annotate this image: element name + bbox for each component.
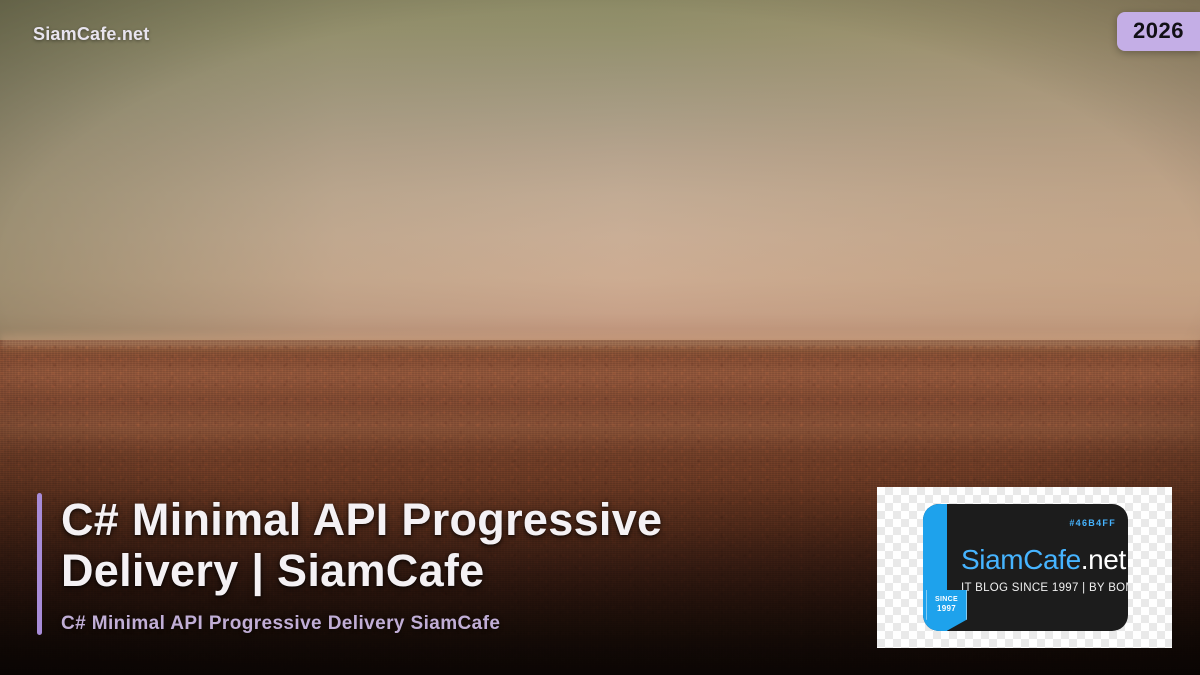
since-ribbon-line1: SINCE bbox=[927, 596, 966, 604]
logo-brand-wordmark: SiamCafe.net bbox=[961, 544, 1126, 576]
accent-bar bbox=[37, 493, 42, 635]
year-badge: 2026 bbox=[1117, 12, 1200, 51]
logo-brand-suffix: .net bbox=[1081, 544, 1126, 575]
since-ribbon-line2: 1997 bbox=[927, 604, 966, 613]
logo-card: #46B4FF SiamCafe.net IT BLOG SINCE 1997 … bbox=[877, 487, 1172, 648]
page-title: C# Minimal API Progressive Delivery | Si… bbox=[61, 495, 701, 596]
logo-brand-primary: SiamCafe bbox=[961, 544, 1081, 575]
page-subtitle: C# Minimal API Progressive Delivery Siam… bbox=[61, 613, 701, 635]
background-sky bbox=[0, 0, 1200, 348]
logo-tagline: IT BLOG SINCE 1997 | BY BOM bbox=[961, 582, 1128, 594]
social-share-card: SiamCafe.net 2026 C# Minimal API Progres… bbox=[0, 0, 1200, 675]
site-name-label: SiamCafe.net bbox=[33, 24, 149, 45]
headline-text-group: C# Minimal API Progressive Delivery | Si… bbox=[61, 493, 701, 635]
headline-block: C# Minimal API Progressive Delivery | Si… bbox=[37, 493, 737, 635]
logo-hex-code: #46B4FF bbox=[1069, 518, 1116, 528]
logo-badge: #46B4FF SiamCafe.net IT BLOG SINCE 1997 … bbox=[923, 504, 1128, 631]
